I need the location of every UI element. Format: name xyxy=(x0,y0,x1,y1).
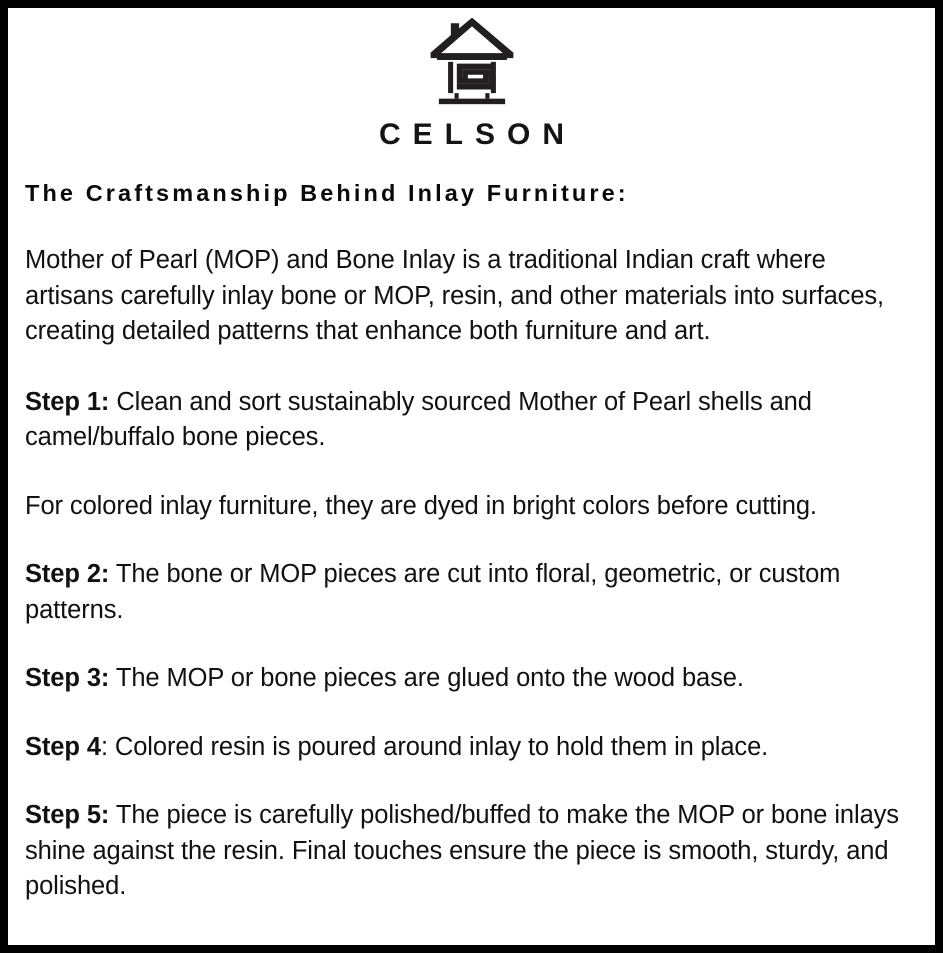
spacer xyxy=(25,765,909,798)
step-4-text: : Colored resin is poured around inlay t… xyxy=(101,733,768,761)
step-4-paragraph: Step 4: Colored resin is poured around i… xyxy=(25,730,909,766)
spacer xyxy=(25,350,909,385)
step-1-paragraph: Step 1: Clean and sort sustainably sourc… xyxy=(25,385,909,456)
poster-inner: CELSON The Craftsmanship Behind Inlay Fu… xyxy=(8,8,935,945)
step-2-text: The bone or MOP pieces are cut into flor… xyxy=(25,560,840,624)
spacer xyxy=(17,207,926,243)
spacer xyxy=(25,628,909,661)
brand-wordmark: CELSON xyxy=(17,120,926,150)
article-body: Mother of Pearl (MOP) and Bone Inlay is … xyxy=(25,243,909,905)
note-paragraph: For colored inlay furniture, they are dy… xyxy=(25,489,909,525)
step-5-paragraph: Step 5: The piece is carefully polished/… xyxy=(25,798,909,905)
step-3-paragraph: Step 3: The MOP or bone pieces are glued… xyxy=(25,661,909,697)
step-3-label: Step 3: xyxy=(25,664,109,692)
brand-block: CELSON xyxy=(17,12,926,150)
step-3-text: The MOP or bone pieces are glued onto th… xyxy=(109,664,744,692)
step-2-paragraph: Step 2: The bone or MOP pieces are cut i… xyxy=(25,557,909,628)
step-5-label: Step 5: xyxy=(25,801,109,829)
step-4-label: Step 4 xyxy=(25,733,101,761)
step-5-text: The piece is carefully polished/buffed t… xyxy=(25,801,899,900)
spacer xyxy=(25,524,909,557)
step-1-text: Clean and sort sustainably sourced Mothe… xyxy=(25,388,812,452)
intro-paragraph: Mother of Pearl (MOP) and Bone Inlay is … xyxy=(25,243,909,350)
step-2-label: Step 2: xyxy=(25,560,109,588)
house-monogram-logo-icon xyxy=(426,12,518,108)
spacer xyxy=(25,697,909,730)
spacer xyxy=(25,456,909,489)
step-1-label: Step 1: xyxy=(25,388,109,416)
poster-card: CELSON The Craftsmanship Behind Inlay Fu… xyxy=(0,0,943,953)
page-title: The Craftsmanship Behind Inlay Furniture… xyxy=(25,180,926,207)
